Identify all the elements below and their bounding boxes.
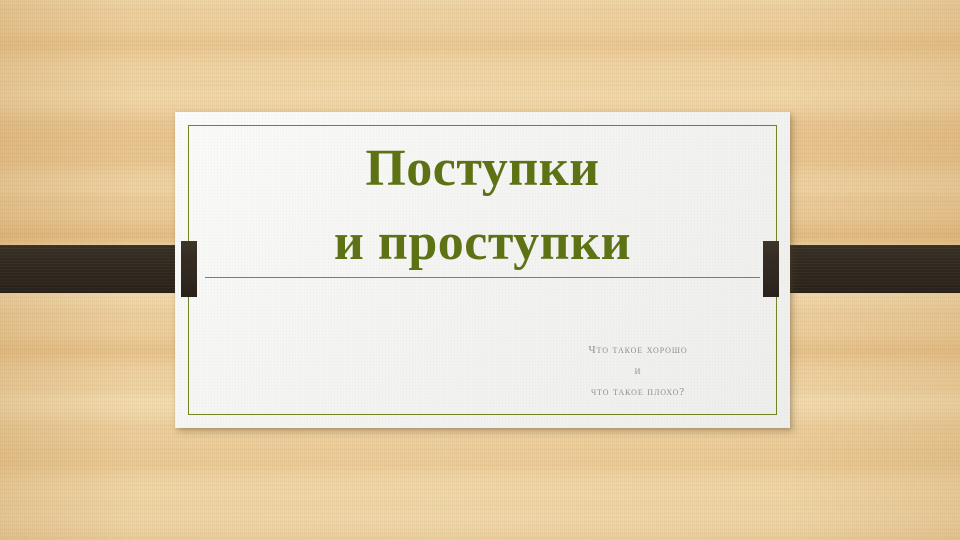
ribbon-end-cap-left <box>181 241 197 297</box>
slide-subtitle: Что такое хорошо и что такое плохо? <box>508 340 768 403</box>
title-line-2: и проступки <box>175 206 790 280</box>
slide-stage: Поступки и проступки Что такое хорошо и … <box>0 0 960 540</box>
subtitle-line-2: и <box>508 361 768 382</box>
title-divider <box>205 277 760 278</box>
subtitle-line-3: что такое плохо? <box>508 382 768 403</box>
ribbon-end-cap-right <box>763 241 779 297</box>
subtitle-line-1: Что такое хорошо <box>508 340 768 361</box>
title-line-1: Поступки <box>175 132 790 206</box>
slide-title: Поступки и проступки <box>175 132 790 280</box>
title-card: Поступки и проступки Что такое хорошо и … <box>175 112 790 428</box>
